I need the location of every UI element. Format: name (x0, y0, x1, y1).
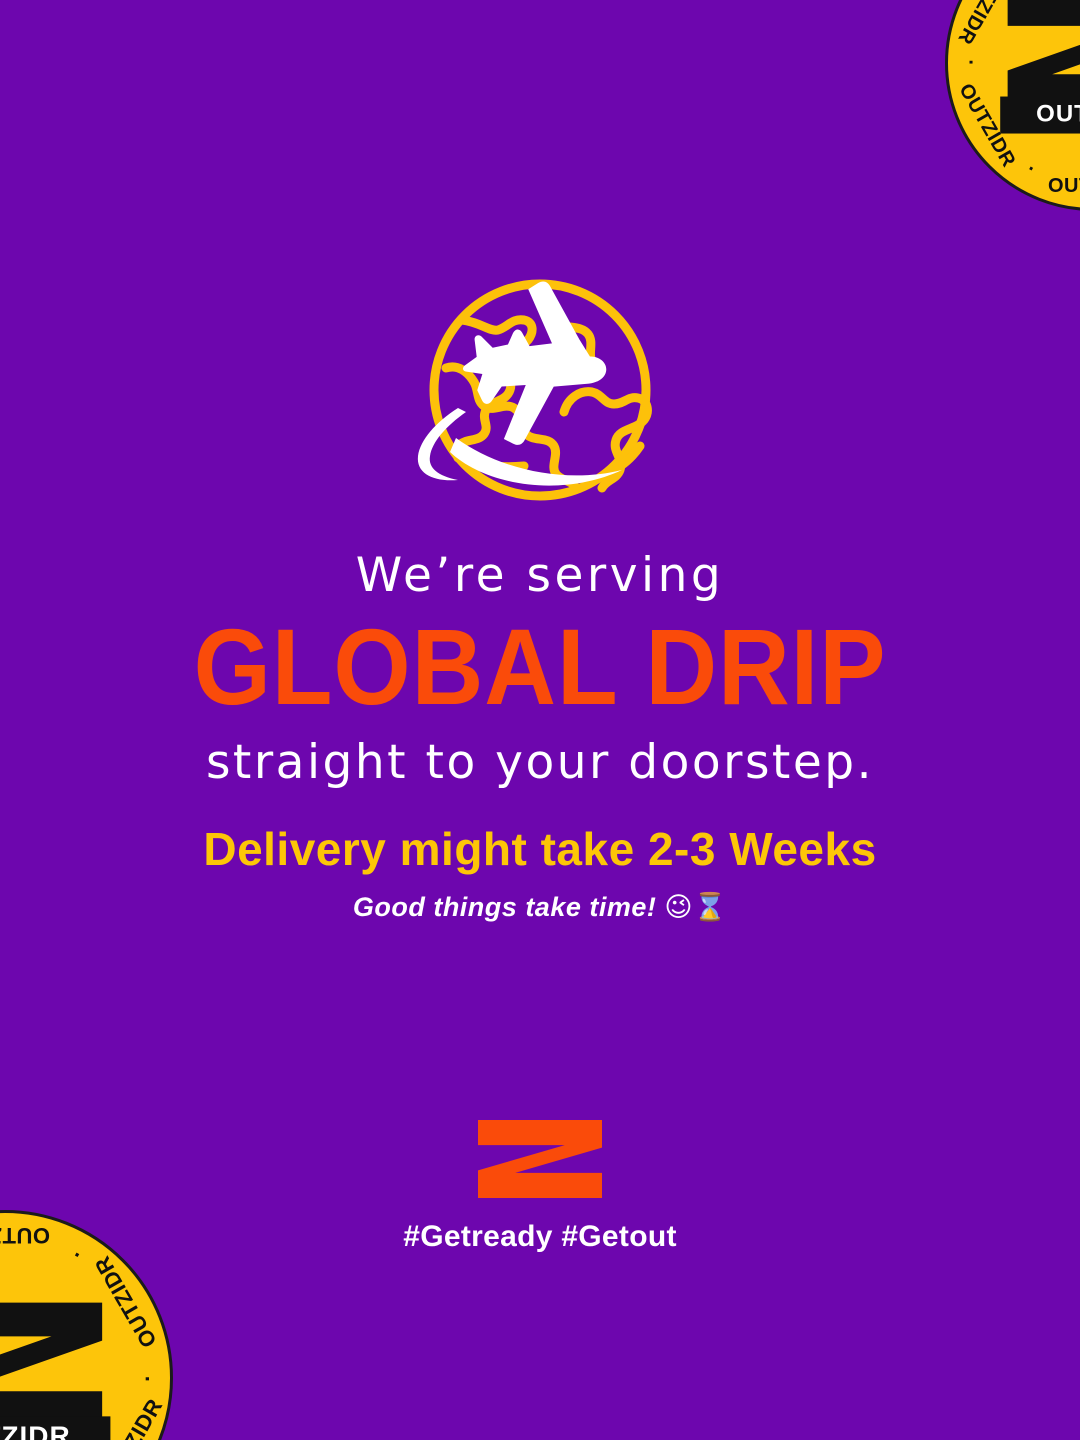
globe-airplane-icon (350, 272, 730, 522)
delivery-block: Delivery might take 2-3 Weeks Good thing… (0, 824, 1080, 923)
headline-line-2: GLOBAL DRIP (43, 613, 1037, 721)
delivery-main-text: Delivery might take 2-3 Weeks (0, 824, 1080, 875)
headline-block: We’re serving GLOBAL DRIP straight to yo… (0, 552, 1080, 786)
badge-center-bottom-left: OUTZIDR (0, 1298, 111, 1440)
badge-wordmark-text: OUTZIDR (0, 1421, 71, 1440)
delivery-sub-line: Good things take time! 😉⌛ (0, 891, 1080, 923)
footer-hashtags: #Getready #Getout (403, 1220, 677, 1254)
badge-wordmark-plate: OUTZIDR (1000, 96, 1080, 133)
badge-wordmark-plate: OUTZIDR (0, 1417, 111, 1440)
badge-top-right: OUTZIDR·OUTZIDR·OUTZIDR·OUTZIDR·OUTZIDR·… (945, 0, 1080, 211)
badge-center-top-right: OUTZIDR (1000, 0, 1080, 133)
headline-line-3: straight to your doorstep. (0, 739, 1080, 786)
outzidr-z-logo-icon (478, 1120, 602, 1198)
headline-line-1: We’re serving (0, 552, 1080, 599)
z-mark-icon (1000, 0, 1080, 108)
wink-hourglass-emoji: 😉⌛ (664, 892, 727, 923)
badge-wordmark-text: OUTZIDR (1036, 100, 1080, 127)
z-mark-icon (0, 1298, 111, 1429)
delivery-sub-text: Good things take time! (353, 892, 657, 922)
footer-block: #Getready #Getout (0, 1120, 1080, 1254)
poster-canvas: OUTZIDR·OUTZIDR·OUTZIDR·OUTZIDR·OUTZIDR·… (0, 0, 1080, 1440)
